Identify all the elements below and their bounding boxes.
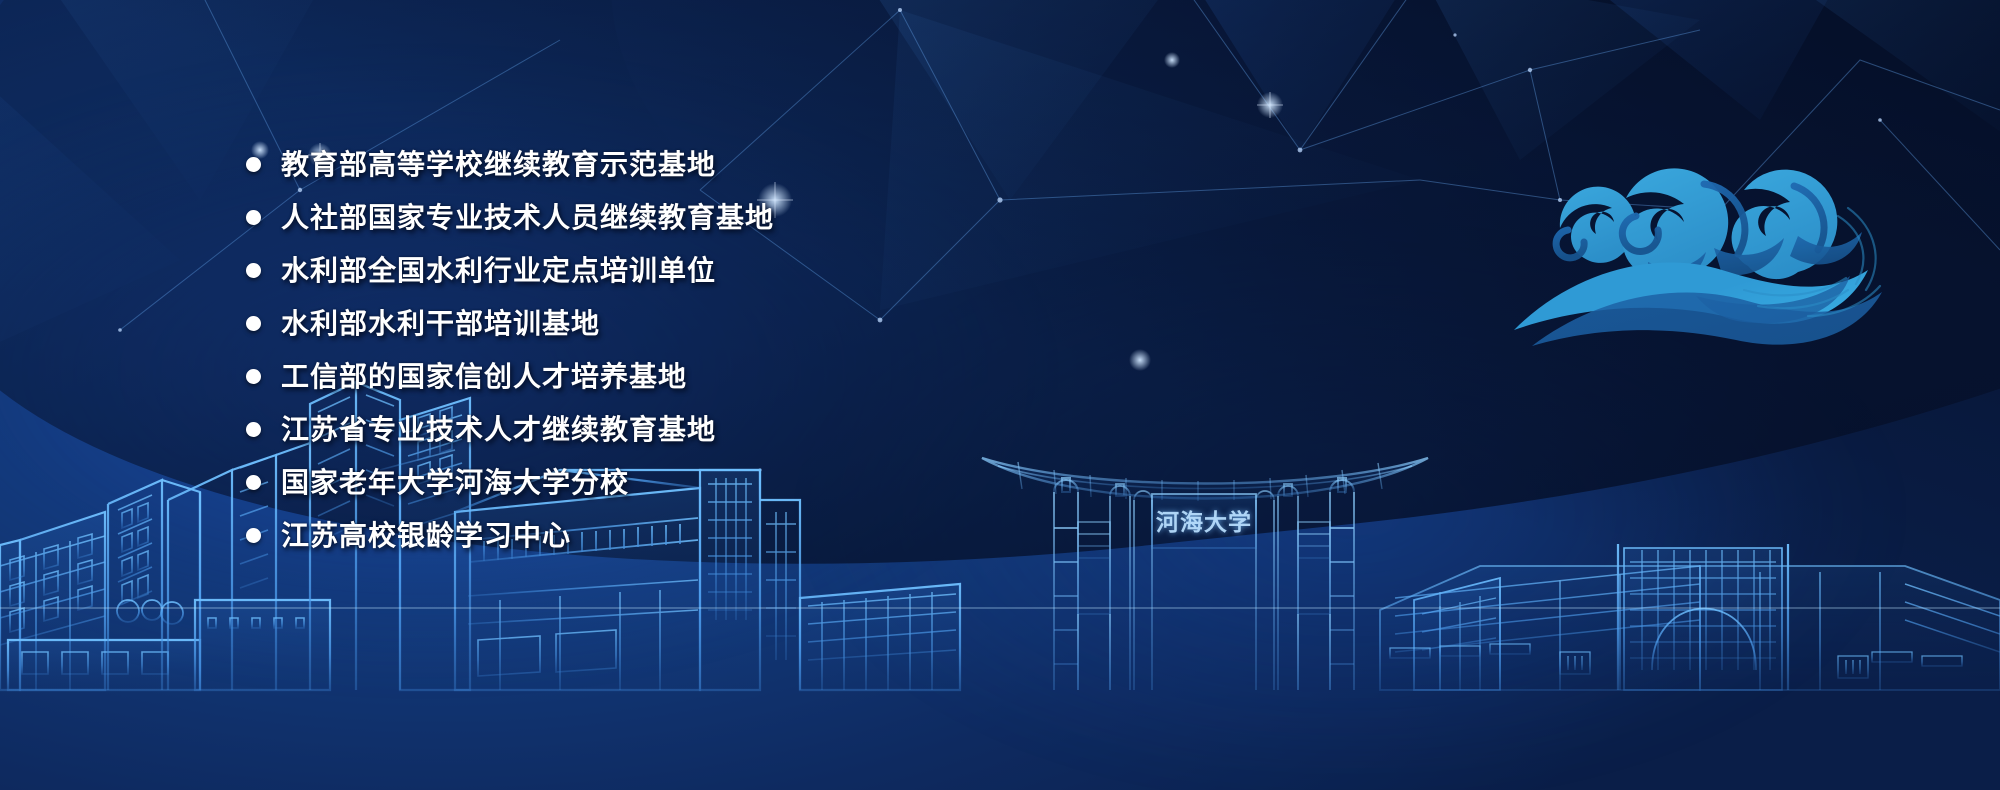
bullet-dot-icon bbox=[246, 157, 261, 172]
bullet-dot-icon bbox=[246, 475, 261, 490]
bullet-dot-icon bbox=[246, 316, 261, 331]
university-credentials-banner: 河海大学 bbox=[0, 0, 2000, 790]
list-item: 江苏高校银龄学习中心 bbox=[246, 509, 774, 562]
bullet-dot-icon bbox=[246, 422, 261, 437]
list-item: 教育部高等学校继续教育示范基地 bbox=[246, 138, 774, 191]
credential-label: 江苏省专业技术人才继续教育基地 bbox=[281, 416, 716, 444]
list-item: 水利部水利干部培训基地 bbox=[246, 297, 774, 350]
credential-label: 人社部国家专业技术人员继续教育基地 bbox=[281, 204, 774, 232]
list-item: 工信部的国家信创人才培养基地 bbox=[246, 350, 774, 403]
list-item: 国家老年大学河海大学分校 bbox=[246, 456, 774, 509]
auspicious-cloud-wave-icon bbox=[1508, 120, 1968, 350]
bullet-dot-icon bbox=[246, 263, 261, 278]
credential-label: 江苏高校银龄学习中心 bbox=[281, 522, 571, 550]
credential-label: 水利部水利干部培训基地 bbox=[281, 310, 600, 338]
credential-label: 水利部全国水利行业定点培训单位 bbox=[281, 257, 716, 285]
gate-plaque-text: 河海大学 bbox=[1156, 500, 1252, 540]
list-item: 水利部全国水利行业定点培训单位 bbox=[246, 244, 774, 297]
bullet-dot-icon bbox=[246, 210, 261, 225]
credentials-list: 教育部高等学校继续教育示范基地 人社部国家专业技术人员继续教育基地 水利部全国水… bbox=[246, 138, 774, 562]
bullet-dot-icon bbox=[246, 369, 261, 384]
bullet-dot-icon bbox=[246, 528, 261, 543]
list-item: 人社部国家专业技术人员继续教育基地 bbox=[246, 191, 774, 244]
credential-label: 教育部高等学校继续教育示范基地 bbox=[281, 151, 716, 179]
credential-label: 国家老年大学河海大学分校 bbox=[281, 469, 629, 497]
list-item: 江苏省专业技术人才继续教育基地 bbox=[246, 403, 774, 456]
credential-label: 工信部的国家信创人才培养基地 bbox=[281, 363, 687, 391]
